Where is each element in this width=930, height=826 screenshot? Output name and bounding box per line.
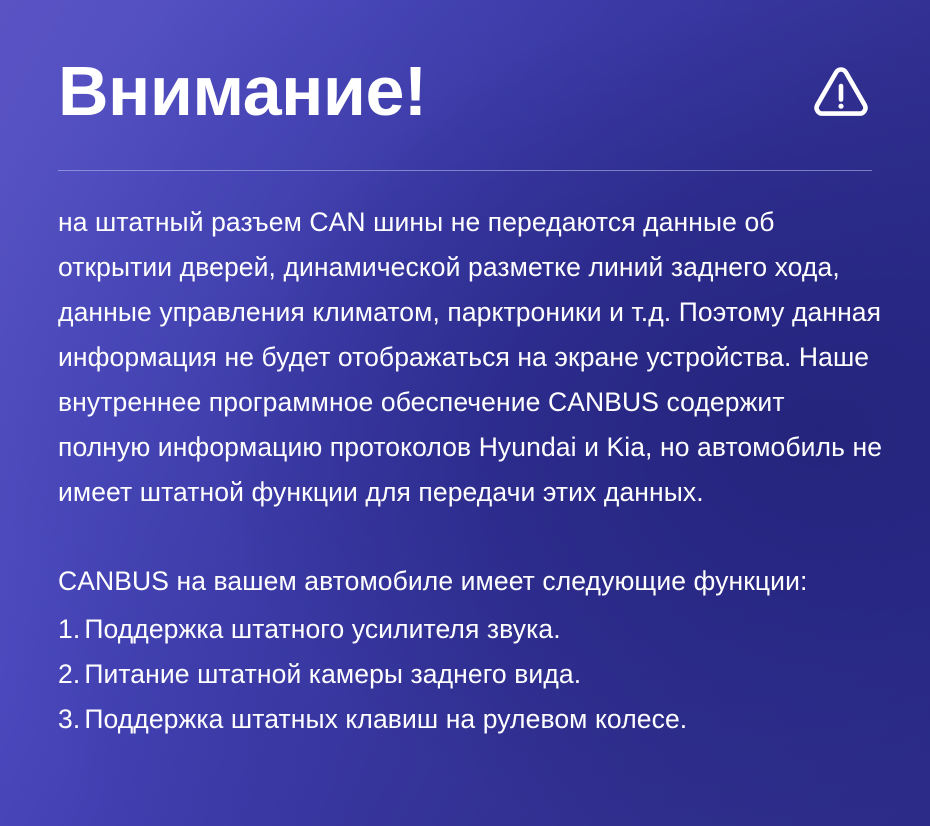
warning-notice-card: Внимание! на штатный разъем CAN шины не … bbox=[0, 0, 930, 826]
page-title: Внимание! bbox=[58, 48, 427, 134]
list-item-number: 3. bbox=[58, 704, 80, 734]
list-item-label: Питание штатной камеры заднего вида. bbox=[84, 659, 581, 689]
list-item: 1.Поддержка штатного усилителя звука. bbox=[58, 607, 886, 652]
intro-paragraph: на штатный разъем CAN шины не передаются… bbox=[58, 200, 884, 515]
list-item-label: Поддержка штатного усилителя звука. bbox=[84, 614, 560, 644]
header-divider bbox=[58, 170, 872, 171]
notice-body: на штатный разъем CAN шины не передаются… bbox=[58, 200, 886, 742]
list-item-number: 2. bbox=[58, 659, 80, 689]
list-item-number: 1. bbox=[58, 614, 80, 644]
functions-intro-text: CANBUS на вашем автомобиле имеет следующ… bbox=[58, 559, 886, 604]
list-item-label: Поддержка штатных клавиш на рулевом коле… bbox=[84, 704, 687, 734]
list-item: 3.Поддержка штатных клавиш на рулевом ко… bbox=[58, 697, 886, 742]
functions-list: 1.Поддержка штатного усилителя звука. 2.… bbox=[58, 607, 886, 742]
list-item: 2.Питание штатной камеры заднего вида. bbox=[58, 652, 886, 697]
notice-header: Внимание! bbox=[58, 48, 872, 148]
warning-triangle-icon bbox=[810, 61, 872, 123]
functions-block: CANBUS на вашем автомобиле имеет следующ… bbox=[58, 559, 886, 742]
